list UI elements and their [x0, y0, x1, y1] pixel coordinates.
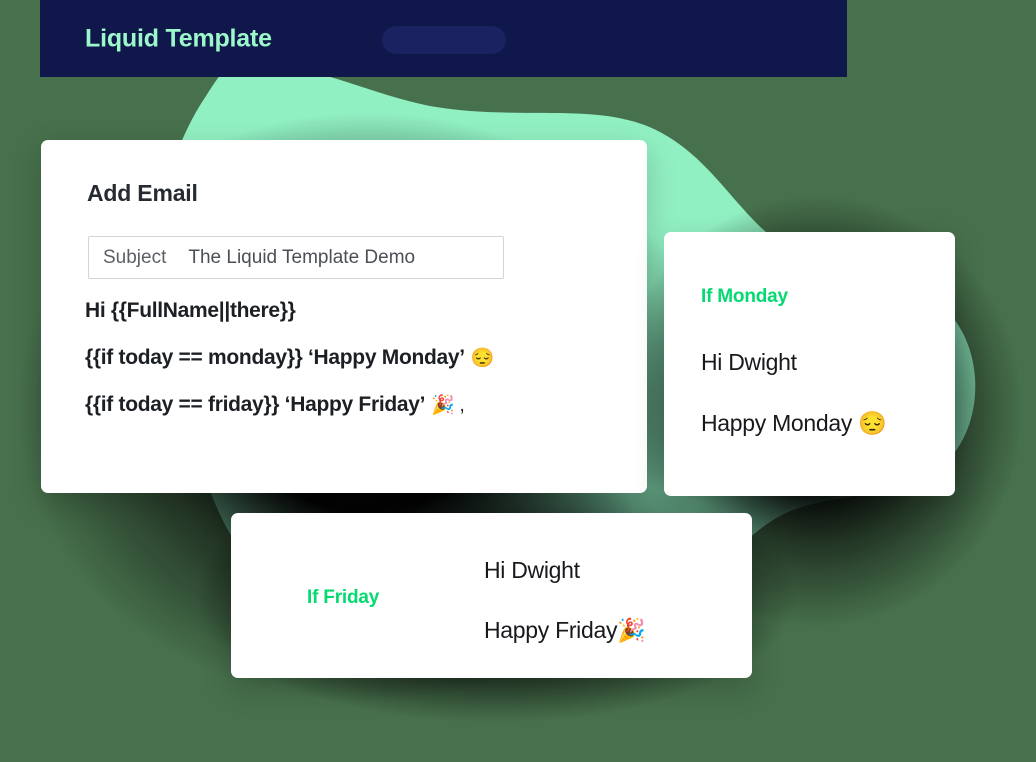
template-line-text: {{if today == friday}} ‘Happy Friday’ — [85, 393, 425, 416]
subject-input-value[interactable]: The Liquid Template Demo — [188, 247, 415, 269]
template-line-text: {{if today == monday}} ‘Happy Monday’ — [85, 346, 465, 369]
if-friday-greeting: Hi Dwight — [484, 557, 580, 584]
if-monday-preview-card: If Monday Hi Dwight Happy Monday 😔 — [664, 232, 955, 496]
pensive-face-emoji: 😔 — [471, 348, 494, 369]
app-header-bar: Liquid Template — [40, 0, 847, 77]
subject-label: Subject — [103, 247, 166, 269]
add-email-card: Add Email Subject The Liquid Template De… — [41, 140, 647, 493]
template-line: {{if today == monday}} ‘Happy Monday’😔 — [85, 345, 645, 371]
template-line: Hi {{FullName||there}} — [85, 298, 645, 324]
if-monday-greeting: Hi Dwight — [701, 349, 797, 376]
if-friday-preview-card: If Friday Hi Dwight Happy Friday🎉 — [231, 513, 752, 678]
if-friday-label: If Friday — [307, 587, 379, 609]
template-line-text: Hi {{FullName||there}} — [85, 299, 296, 322]
if-monday-message: Happy Monday 😔 — [701, 410, 887, 437]
illustration-stage: Liquid Template Add Email Subject The Li… — [0, 0, 1036, 762]
if-friday-message: Happy Friday🎉 — [484, 617, 646, 644]
email-body-editor[interactable]: Hi {{FullName||there}} {{if today == mon… — [85, 298, 645, 438]
add-email-heading: Add Email — [87, 180, 198, 207]
if-monday-label: If Monday — [701, 286, 788, 308]
party-popper-emoji: 🎉 , — [431, 395, 464, 416]
app-title: Liquid Template — [85, 24, 272, 53]
subject-input-wrapper[interactable]: Subject The Liquid Template Demo — [88, 236, 504, 279]
header-pill-button[interactable] — [382, 26, 506, 54]
template-line: {{if today == friday}} ‘Happy Friday’🎉 , — [85, 392, 645, 418]
